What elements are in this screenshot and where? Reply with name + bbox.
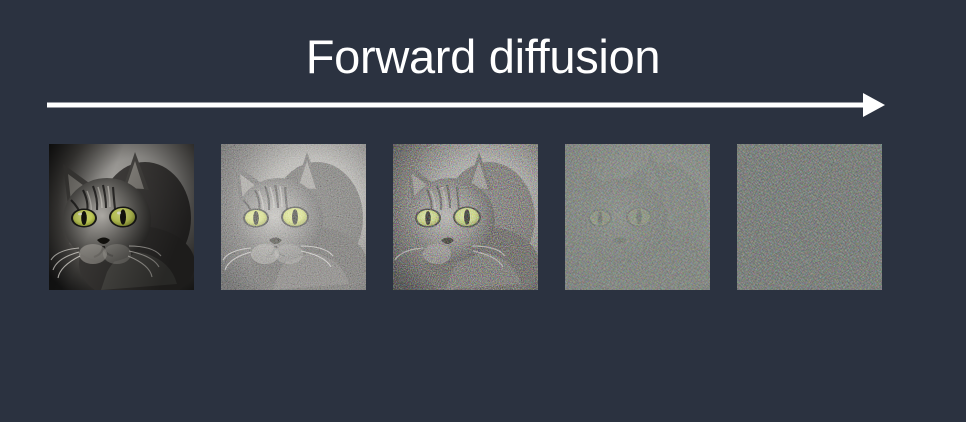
diffusion-frame-strip: [49, 144, 883, 291]
color-noise-overlay: [393, 144, 538, 290]
arrow-head-icon: [863, 93, 885, 117]
color-noise-overlay: [565, 144, 710, 290]
page-title: Forward diffusion: [0, 33, 966, 80]
diffusion-frame-1[interactable]: [221, 144, 366, 290]
arrow-shaft-icon: [47, 103, 867, 108]
forward-diffusion-slide: Forward diffusion: [0, 0, 966, 422]
diffusion-frame-0[interactable]: [49, 144, 194, 290]
diffusion-frame-2[interactable]: [393, 144, 538, 290]
diffusion-frame-3[interactable]: [565, 144, 710, 290]
diffusion-frame-4[interactable]: [737, 144, 882, 290]
color-noise-overlay: [221, 144, 366, 290]
noise-overlay: [737, 144, 882, 290]
forward-diffusion-arrow: [45, 88, 890, 122]
